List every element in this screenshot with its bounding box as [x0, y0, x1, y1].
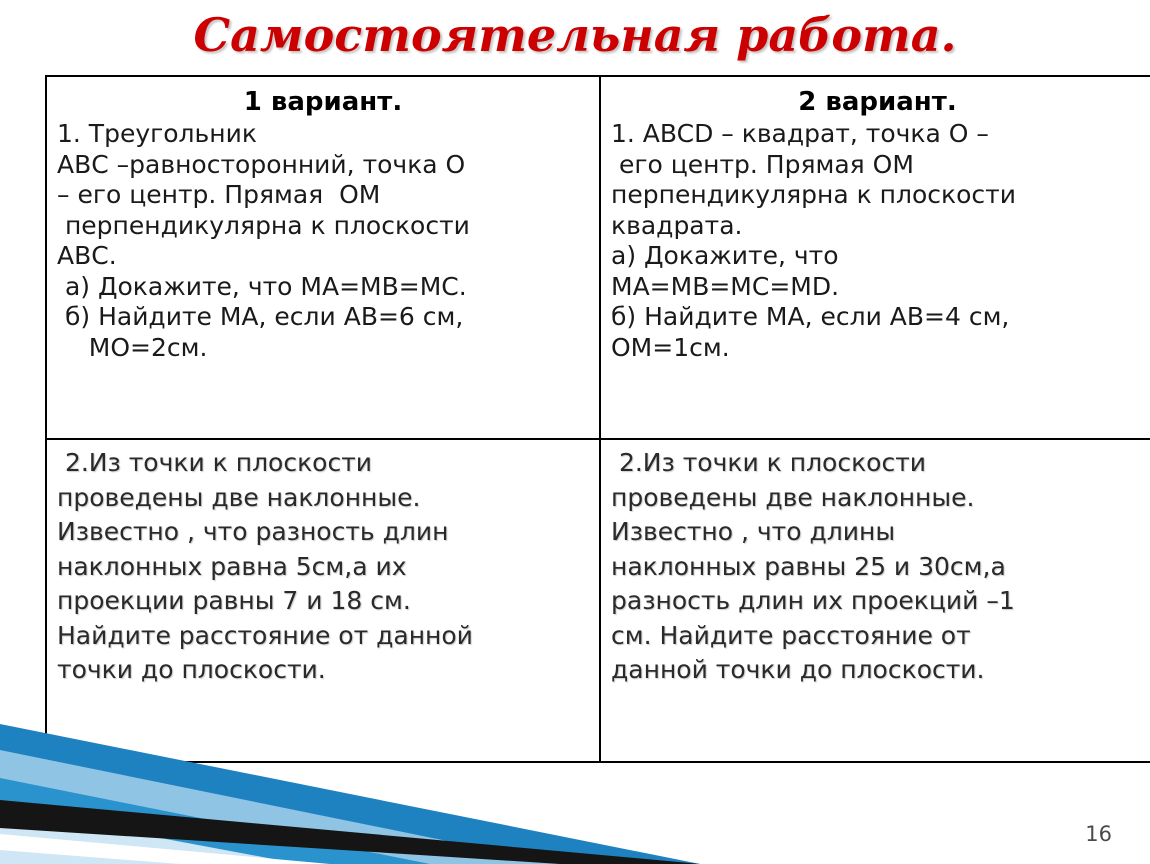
variant-1-task-1-text: 1. Треугольник АВС –равносторонний, точк…	[57, 119, 589, 363]
table-row-task1: 1 вариант. 1. Треугольник АВС –равностор…	[46, 76, 1150, 439]
variant-2-heading: 2 вариант.	[611, 87, 1144, 117]
slide-number: 16	[1085, 822, 1112, 846]
variant-1-task-1-cell: 1 вариант. 1. Треугольник АВС –равностор…	[46, 76, 600, 439]
table-row-task2: 2.Из точки к плоскости проведены две нак…	[46, 439, 1150, 762]
variant-1-task-2-text: 2.Из точки к плоскости проведены две нак…	[57, 446, 589, 688]
slide-canvas: Самостоятельная работа. 1 вариант. 1. Тр…	[0, 0, 1150, 864]
variant-2-task-1-cell: 2 вариант. 1. ABCD – квадрат, точка О – …	[600, 76, 1150, 439]
page-title: Самостоятельная работа.	[0, 8, 1150, 62]
variant-1-heading: 1 вариант.	[57, 87, 589, 117]
assignment-table: 1 вариант. 1. Треугольник АВС –равностор…	[45, 75, 1150, 763]
variant-1-task-2-cell: 2.Из точки к плоскости проведены две нак…	[46, 439, 600, 762]
variant-2-task-1-text: 1. ABCD – квадрат, точка О – его центр. …	[611, 119, 1144, 363]
variant-2-task-2-text: 2.Из точки к плоскости проведены две нак…	[611, 446, 1144, 688]
variant-2-task-2-cell: 2.Из точки к плоскости проведены две нак…	[600, 439, 1150, 762]
